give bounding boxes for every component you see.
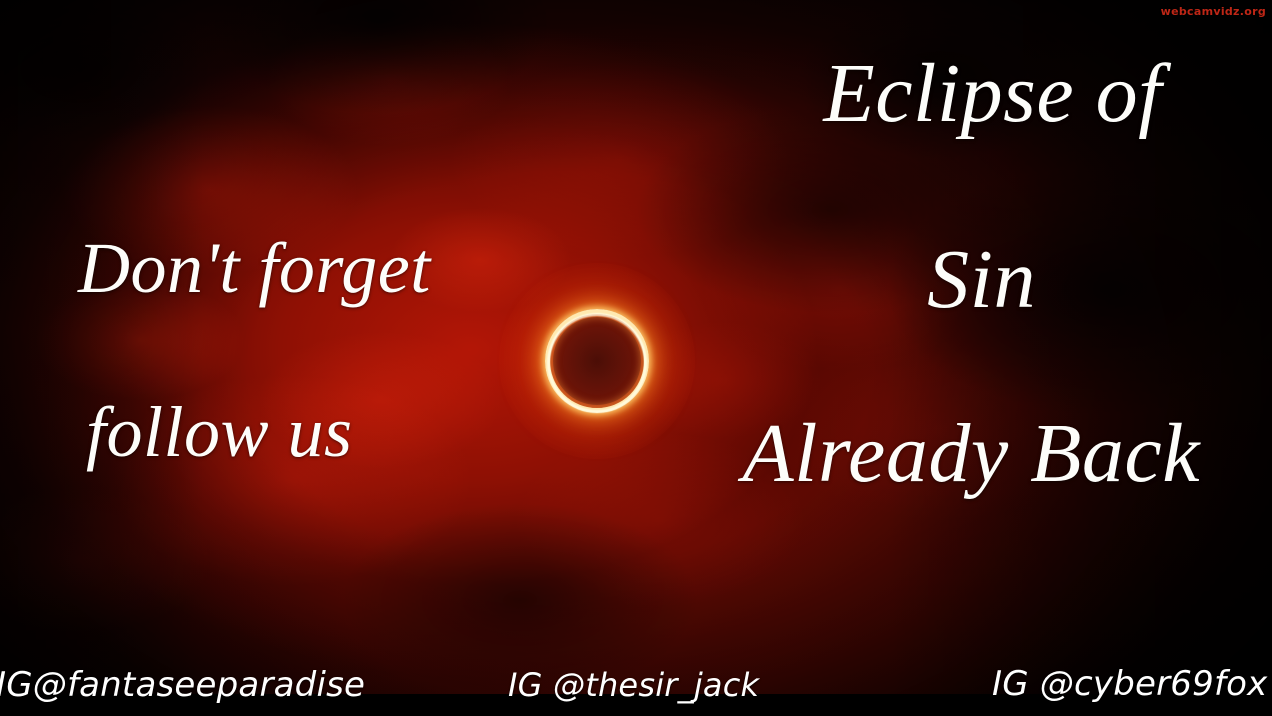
cta-line-dont-forget: Don't forget [78, 232, 431, 304]
video-frame: Eclipse of Sin Already Back Don't forget… [0, 0, 1272, 716]
instagram-handle-left: IG@fantaseeparadise [0, 668, 365, 702]
instagram-handle-right: IG @cyber69fox [992, 667, 1267, 701]
instagram-handle-center: IG @thesir_jack [508, 669, 759, 701]
title-line-eclipse-of: Eclipse of [823, 52, 1162, 136]
title-line-sin: Sin [927, 238, 1036, 322]
cta-line-follow-us: follow us [86, 396, 353, 468]
title-line-already-back: Already Back [742, 412, 1200, 496]
site-watermark: webcamvidz.org [1161, 5, 1266, 18]
